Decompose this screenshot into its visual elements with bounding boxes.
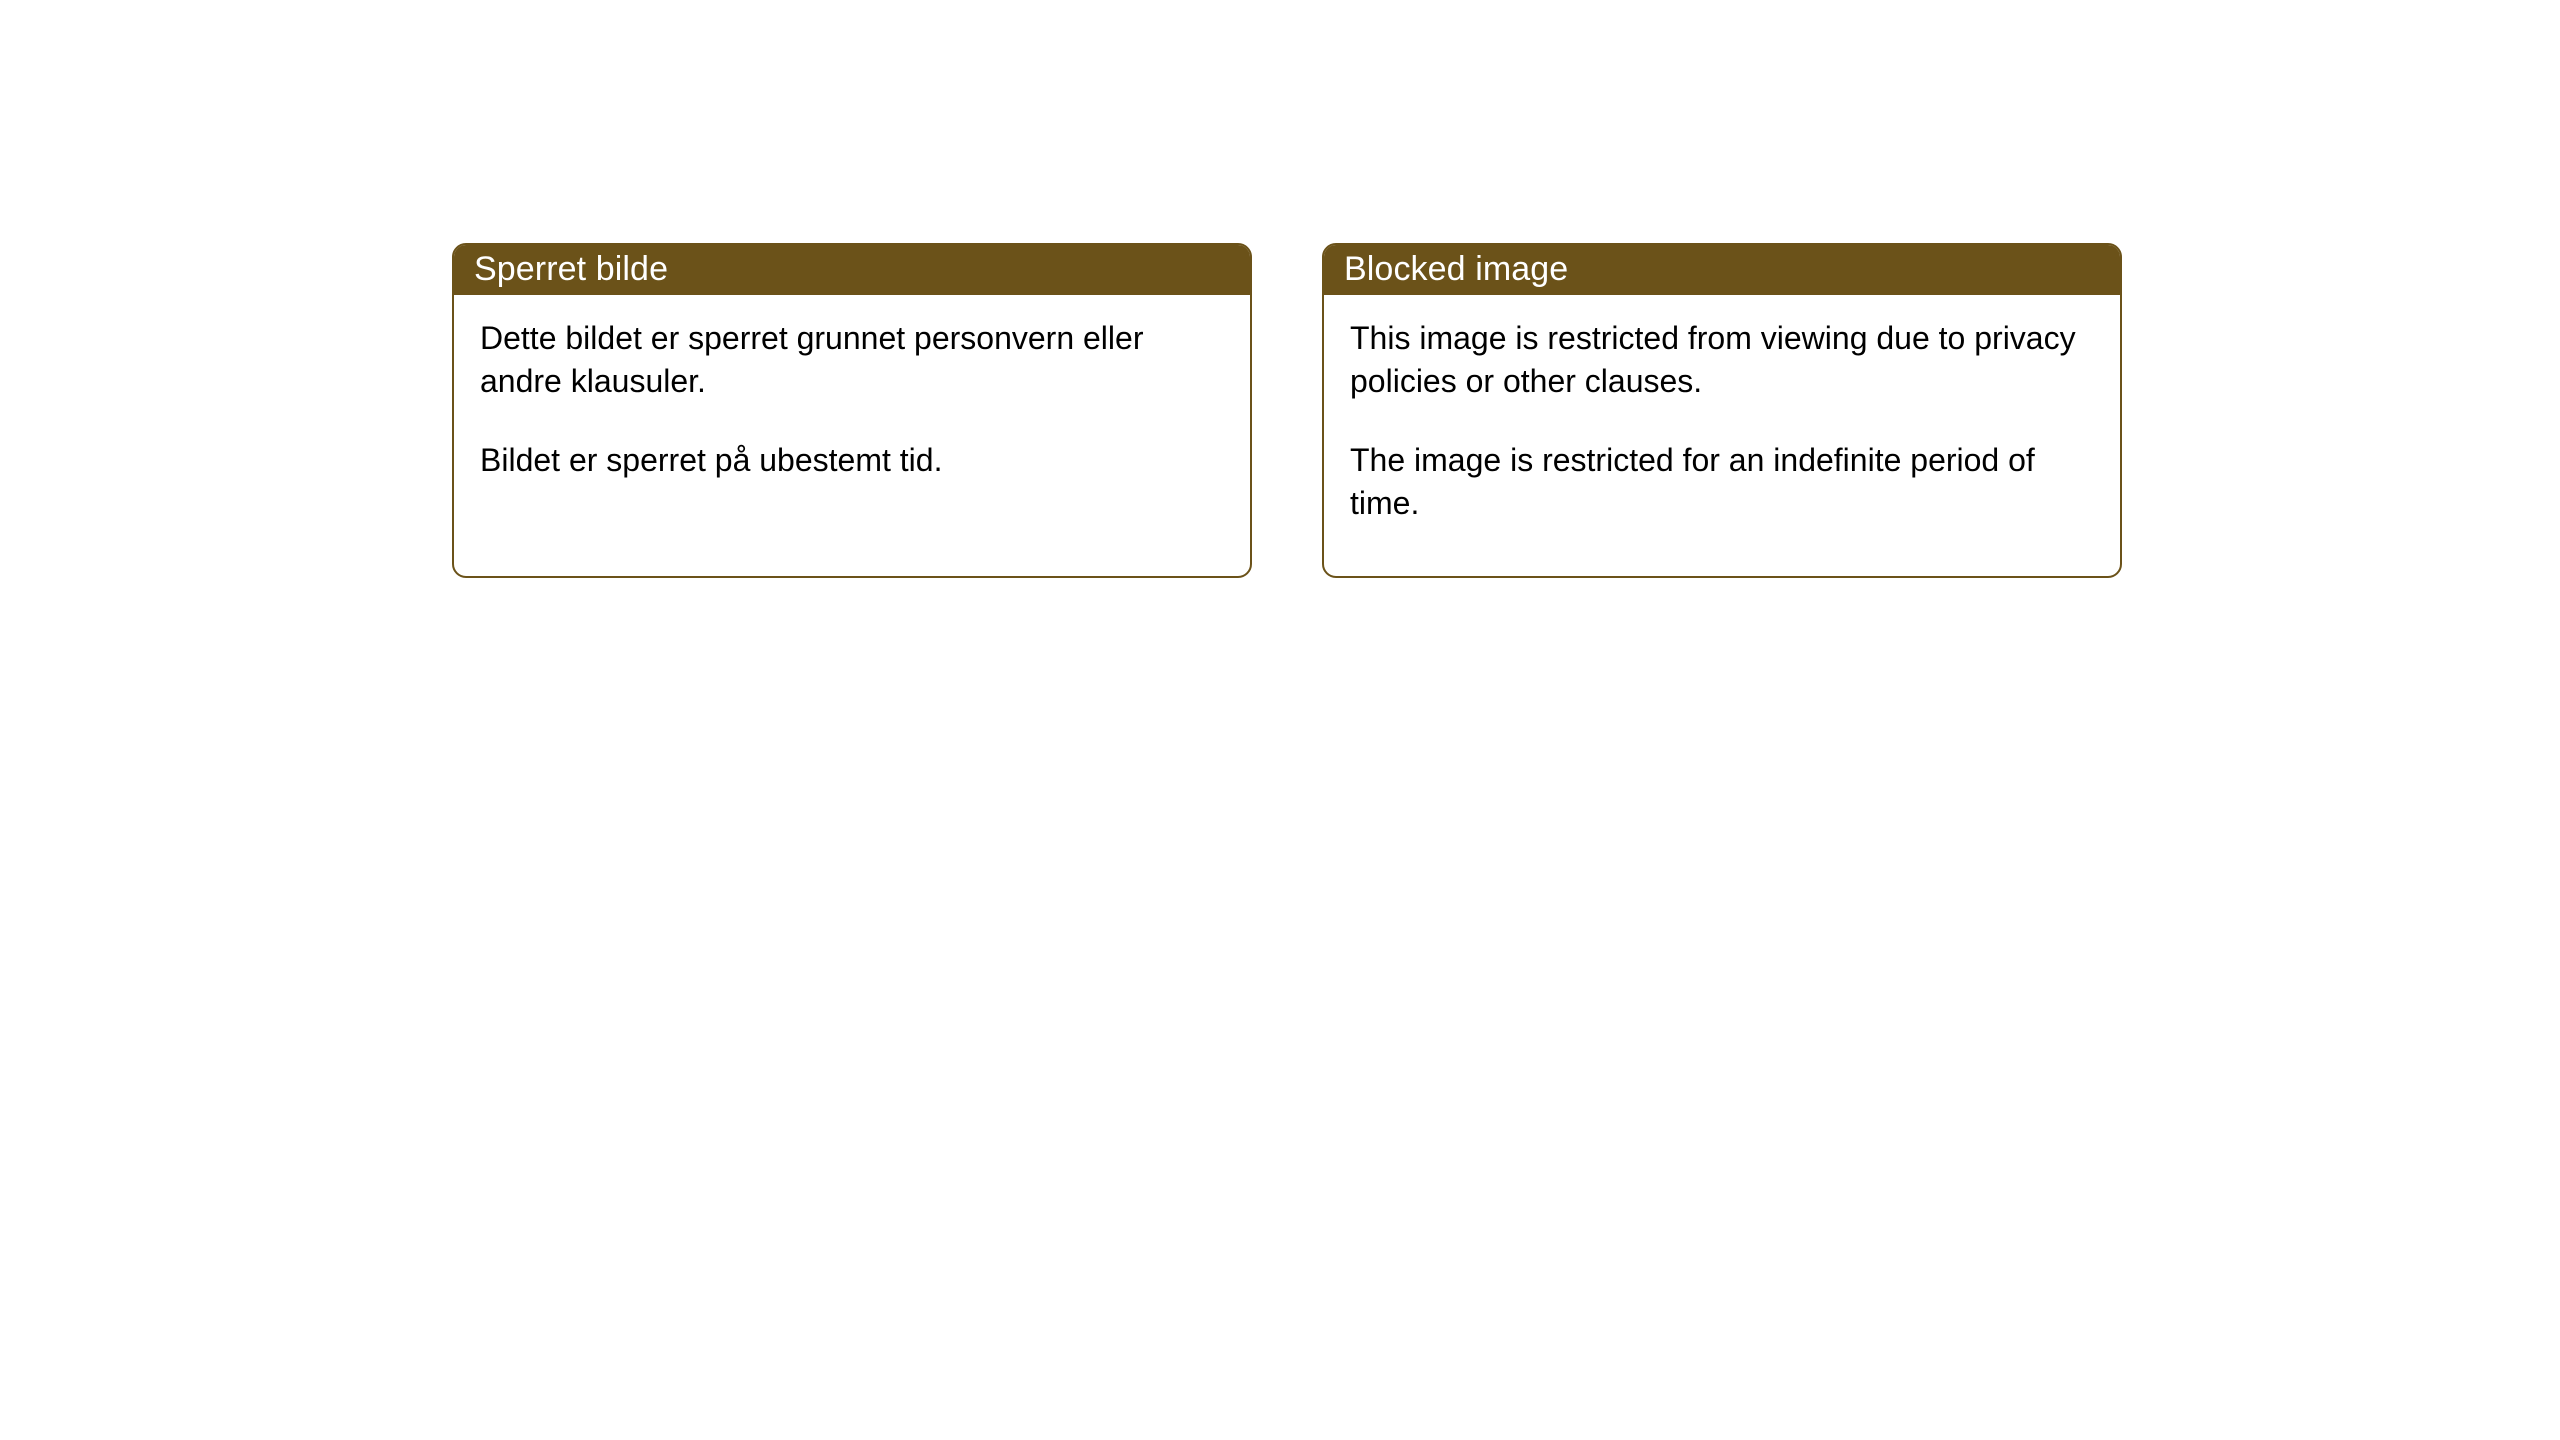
page-canvas: Sperret bilde Dette bildet er sperret gr… xyxy=(0,0,2560,1440)
card-header-english: Blocked image xyxy=(1322,243,2122,295)
card-paragraph-restriction-reason-english: This image is restricted from viewing du… xyxy=(1350,317,2094,403)
card-header-norwegian: Sperret bilde xyxy=(452,243,1252,295)
blocked-image-notice-card-norwegian: Sperret bilde Dette bildet er sperret gr… xyxy=(452,243,1252,578)
card-paragraph-restriction-reason-norwegian: Dette bildet er sperret grunnet personve… xyxy=(480,317,1224,403)
card-body-english: This image is restricted from viewing du… xyxy=(1324,295,2120,525)
card-paragraph-restriction-duration-english: The image is restricted for an indefinit… xyxy=(1350,439,2094,525)
blocked-image-notice-card-english: Blocked image This image is restricted f… xyxy=(1322,243,2122,578)
card-body-norwegian: Dette bildet er sperret grunnet personve… xyxy=(454,295,1250,482)
card-paragraph-restriction-duration-norwegian: Bildet er sperret på ubestemt tid. xyxy=(480,439,1224,482)
card-title-norwegian: Sperret bilde xyxy=(474,252,668,286)
card-title-english: Blocked image xyxy=(1344,252,1568,286)
